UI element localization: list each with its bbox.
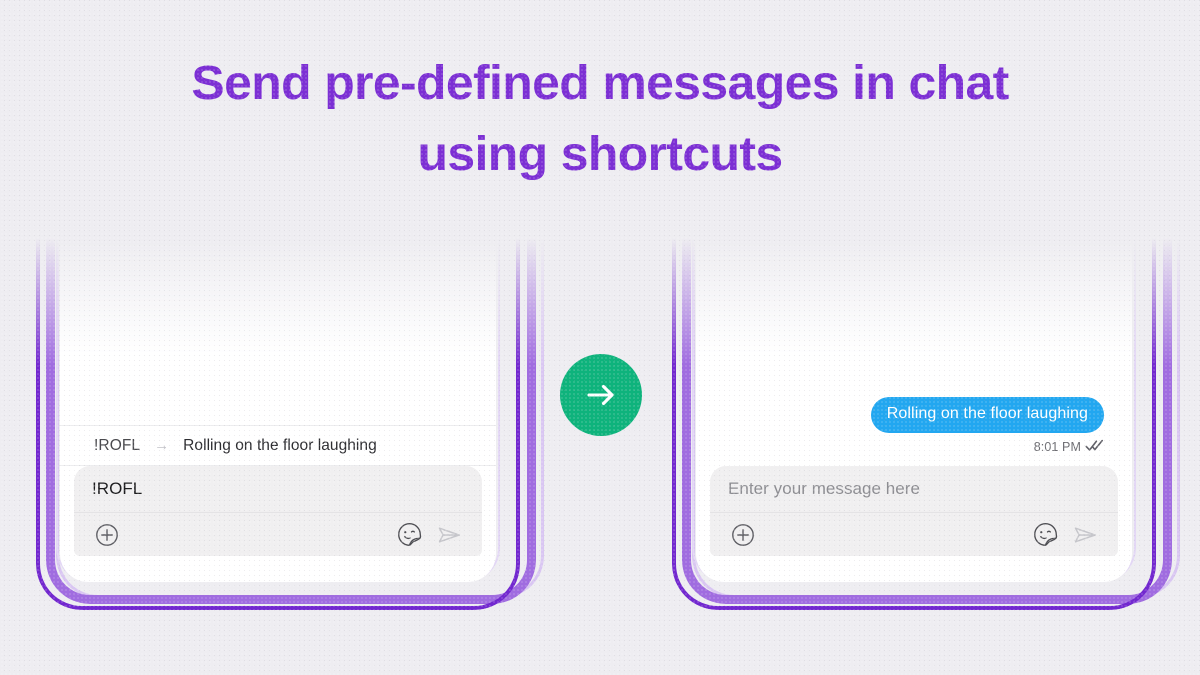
message-timestamp: 8:01 PM xyxy=(1034,440,1081,454)
send-paper-plane-icon[interactable] xyxy=(1068,518,1102,552)
transition-arrow-button[interactable] xyxy=(560,354,642,436)
shortcut-suggestion-row[interactable]: !ROFL → Rolling on the floor laughing xyxy=(60,425,496,466)
shortcut-code: !ROFL xyxy=(94,437,140,455)
page-title: Send pre-defined messages in chat using … xyxy=(0,48,1200,190)
page-title-line-1: Send pre-defined messages in chat xyxy=(0,48,1200,119)
double-check-read-icon xyxy=(1085,439,1104,455)
message-input-before[interactable]: !ROFL xyxy=(74,466,482,512)
shortcut-expansion-text: Rolling on the floor laughing xyxy=(183,437,377,455)
composer-actions-after xyxy=(710,512,1118,556)
message-list-after: Rolling on the floor laughing 8:01 PM xyxy=(696,238,1132,466)
composer-actions-before xyxy=(74,512,482,556)
message-composer-before: !ROFL xyxy=(74,466,482,556)
phone-mockup-after: Rolling on the floor laughing 8:01 PM En… xyxy=(672,238,1156,610)
arrow-right-icon xyxy=(581,375,621,415)
sent-message-bubble[interactable]: Rolling on the floor laughing xyxy=(871,397,1104,433)
chat-screen-before: !ROFL → Rolling on the floor laughing !R… xyxy=(60,238,496,582)
sent-message-group: Rolling on the floor laughing 8:01 PM xyxy=(710,397,1118,466)
message-meta: 8:01 PM xyxy=(1034,439,1104,455)
plus-circle-icon[interactable] xyxy=(90,518,124,552)
message-composer-after: Enter your message here xyxy=(710,466,1118,556)
message-input-after[interactable]: Enter your message here xyxy=(710,466,1118,512)
plus-circle-icon[interactable] xyxy=(726,518,760,552)
page-title-line-2: using shortcuts xyxy=(0,119,1200,190)
sticker-wink-face-icon[interactable] xyxy=(392,518,426,552)
arrow-right-icon: → xyxy=(154,438,169,453)
phone-mockup-before: !ROFL → Rolling on the floor laughing !R… xyxy=(36,238,520,610)
message-list-before: !ROFL → Rolling on the floor laughing xyxy=(60,238,496,466)
sticker-wink-face-icon[interactable] xyxy=(1028,518,1062,552)
chat-screen-after: Rolling on the floor laughing 8:01 PM En… xyxy=(696,238,1132,582)
send-paper-plane-icon[interactable] xyxy=(432,518,466,552)
